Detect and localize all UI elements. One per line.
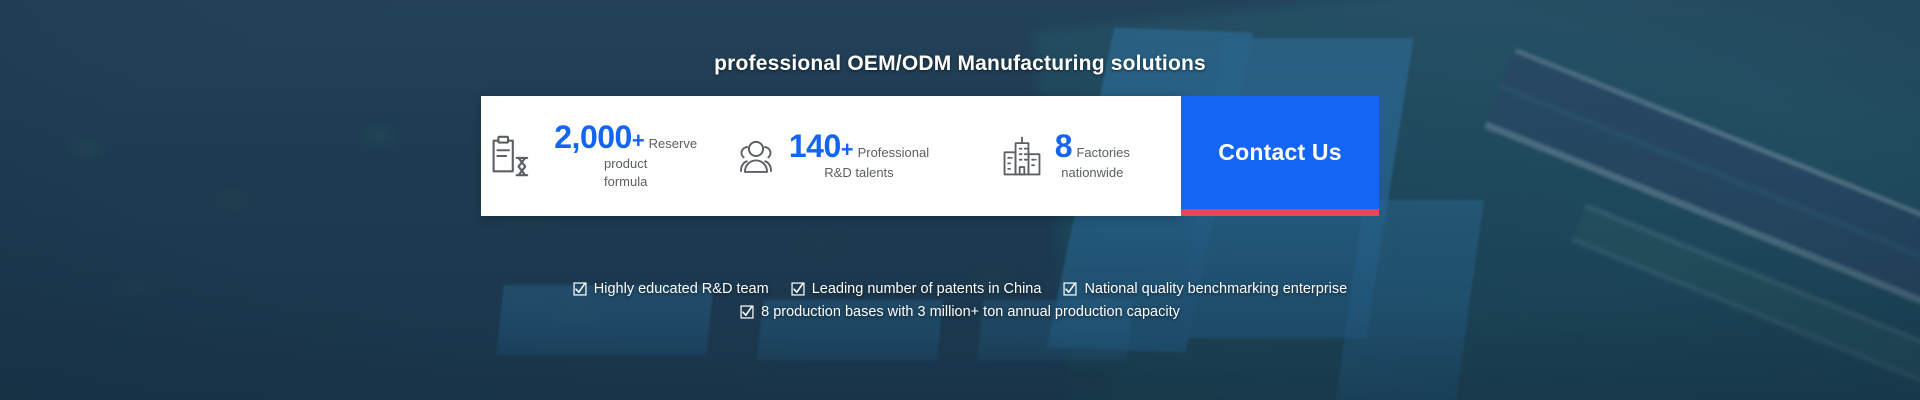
cta-underline — [1181, 209, 1379, 216]
feature-item: 8 production bases with 3 million+ ton a… — [740, 304, 1180, 320]
hero-banner: professional OEM/ODM Manufacturing solut… — [0, 0, 1920, 400]
contact-us-button[interactable]: Contact Us — [1181, 96, 1379, 209]
cta-container: Contact Us — [1181, 96, 1299, 216]
feature-item: Highly educated R&D team — [573, 281, 769, 297]
banner-headline: professional OEM/ODM Manufacturing solut… — [0, 52, 1920, 76]
checkbox-check-icon — [1063, 282, 1077, 296]
feature-label: Leading number of patents in China — [812, 281, 1042, 297]
checkbox-check-icon — [740, 305, 754, 319]
stat-number: 140+ — [789, 128, 853, 164]
people-group-icon — [733, 133, 779, 179]
feature-row: 8 production bases with 3 million+ ton a… — [0, 304, 1920, 320]
stat-item: 140+ Professional R&D talents — [714, 130, 947, 182]
feature-label: Highly educated R&D team — [594, 281, 769, 297]
stat-item: 8 Factories nationwide — [948, 130, 1181, 182]
feature-label: 8 production bases with 3 million+ ton a… — [761, 304, 1180, 320]
feature-item: National quality benchmarking enterprise — [1063, 281, 1347, 297]
stat-item: 2,000+ Reserve product formula — [481, 121, 714, 191]
checkbox-check-icon — [573, 282, 587, 296]
feature-row: Highly educated R&D team Leading number … — [0, 281, 1920, 297]
stat-number: 2,000+ — [554, 119, 644, 155]
stat-number: 8 — [1055, 128, 1072, 164]
stats-card: 2,000+ Reserve product formula 140+ Prof… — [481, 96, 1181, 216]
clipboard-flask-icon — [485, 133, 531, 179]
buildings-icon — [999, 133, 1045, 179]
feature-list: Highly educated R&D team Leading number … — [0, 281, 1920, 320]
checkbox-check-icon — [791, 282, 805, 296]
feature-item: Leading number of patents in China — [791, 281, 1042, 297]
feature-label: National quality benchmarking enterprise — [1084, 281, 1347, 297]
